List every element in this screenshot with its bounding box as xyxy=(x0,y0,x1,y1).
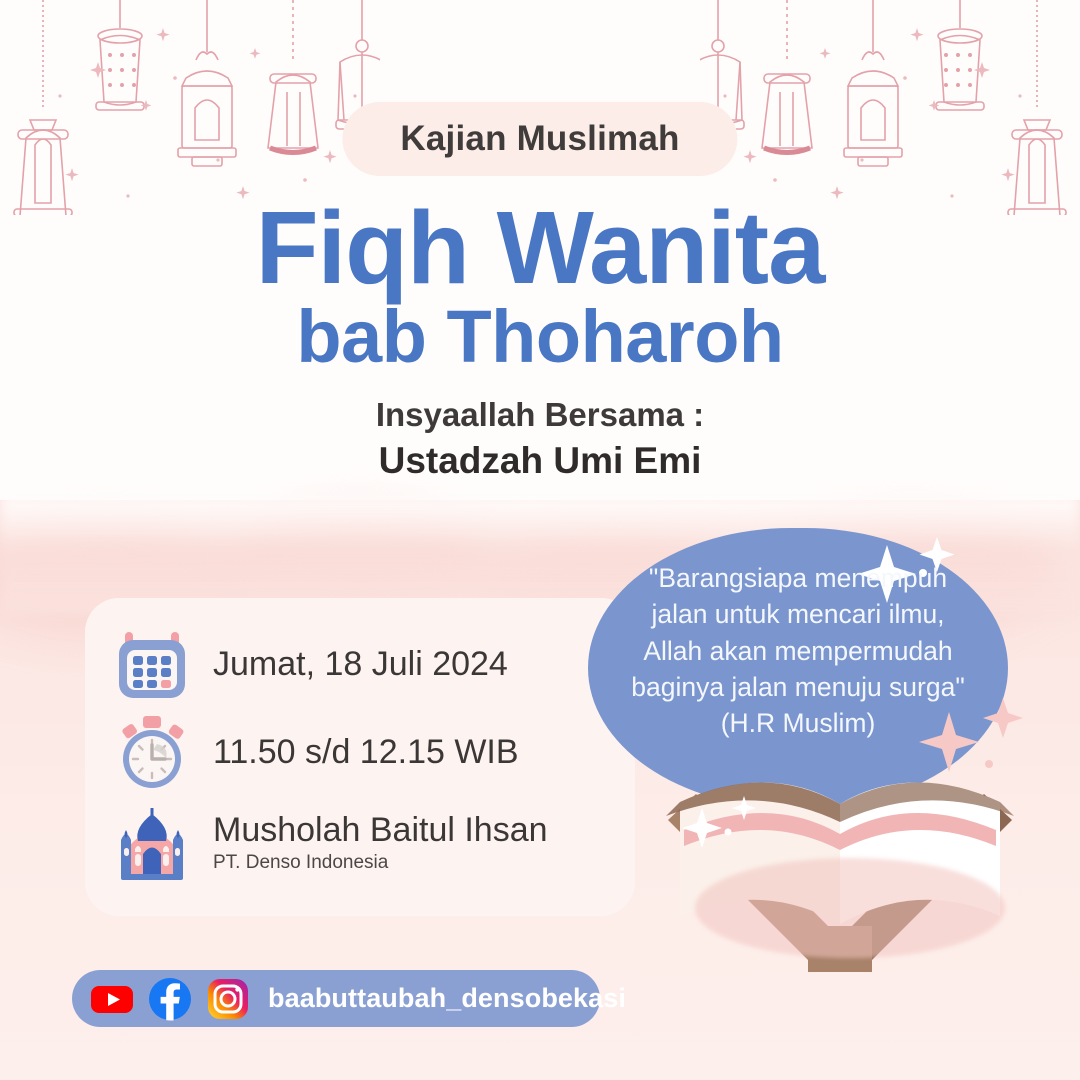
detail-row-date: Jumat, 18 Juli 2024 xyxy=(113,626,508,704)
detail-date-value: Jumat, 18 Juli 2024 xyxy=(213,645,508,684)
social-media-bar[interactable]: baabuttaubah_densobekasi xyxy=(72,970,600,1027)
stopwatch-icon xyxy=(113,714,191,792)
poster-title-line1: Fiqh Wanita xyxy=(0,196,1080,299)
event-details-card: Jumat, 18 Juli 2024 xyxy=(85,598,635,916)
quote-line: "Barangsiapa menempuh xyxy=(600,560,996,596)
mosque-icon xyxy=(113,804,191,882)
social-handle: baabuttaubah_densobekasi xyxy=(268,983,626,1014)
poster-canvas: Kajian Muslimah Fiqh Wanita bab Thoharoh… xyxy=(0,0,1080,1080)
kajian-badge-label: Kajian Muslimah xyxy=(400,119,679,158)
detail-location-name: Musholah Baitul Ihsan xyxy=(213,811,548,850)
detail-location-company: PT. Denso Indonesia xyxy=(213,851,548,876)
presenter-intro: Insyaallah Bersama : xyxy=(0,396,1080,434)
youtube-icon[interactable] xyxy=(90,977,134,1021)
instagram-icon[interactable] xyxy=(206,977,250,1021)
quran-shadow xyxy=(695,858,1005,958)
poster-title-line2: bab Thoharoh xyxy=(0,300,1080,374)
detail-row-location: Musholah Baitul Ihsan PT. Denso Indonesi… xyxy=(113,804,548,882)
calendar-icon xyxy=(113,626,191,704)
presenter-name: Ustadzah Umi Emi xyxy=(0,440,1080,482)
detail-row-time: 11.50 s/d 12.15 WIB xyxy=(113,714,519,792)
detail-time-value: 11.50 s/d 12.15 WIB xyxy=(213,733,519,772)
quote-line: jalan untuk mencari ilmu, xyxy=(600,596,996,632)
quote-line: Allah akan mempermudah xyxy=(600,633,996,669)
facebook-icon[interactable] xyxy=(148,977,192,1021)
quran-illustration xyxy=(640,690,1040,980)
kajian-badge: Kajian Muslimah xyxy=(342,102,737,176)
